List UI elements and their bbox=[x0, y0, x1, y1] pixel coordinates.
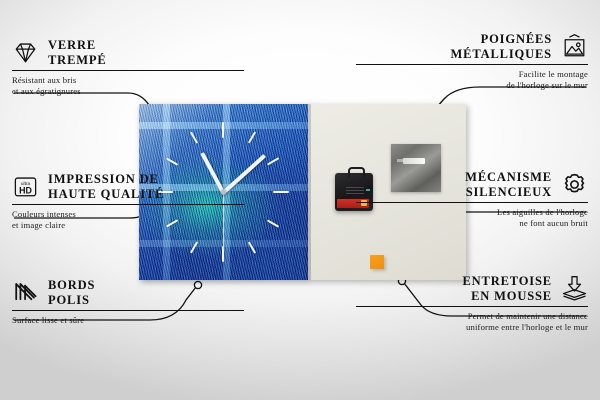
feature-title-line2: MÉTALLIQUES bbox=[450, 47, 552, 62]
feature-header: ENTRETOISE EN MOUSSE bbox=[356, 274, 588, 303]
feature-header: ultra HD IMPRESSION DE HAUTE QUALITÉ bbox=[12, 172, 244, 201]
picture-hanger-icon bbox=[561, 33, 588, 60]
feature-poignees-metalliques: POIGNÉES MÉTALLIQUES Facilite le montage… bbox=[356, 32, 588, 92]
feature-title-line2: SILENCIEUX bbox=[465, 185, 552, 200]
feature-desc-line2: uniforme entre l'horloge et le mur bbox=[356, 322, 588, 333]
foam-spacer-icon bbox=[561, 275, 588, 302]
feature-entretoise-en-mousse: ENTRETOISE EN MOUSSE Permet de maintenir… bbox=[356, 274, 588, 334]
feature-title-line1: IMPRESSION DE bbox=[48, 172, 164, 187]
hanger-slot bbox=[403, 158, 425, 164]
feature-impression-haute-qualite: ultra HD IMPRESSION DE HAUTE QUALITÉ Cou… bbox=[12, 172, 244, 232]
feature-desc-line2: ne font aucun bruit bbox=[356, 218, 588, 229]
feature-divider bbox=[356, 306, 588, 307]
panel-edge bbox=[308, 104, 311, 280]
feature-title-line2: TREMPÉ bbox=[48, 53, 107, 68]
feature-title-line1: BORDS bbox=[48, 278, 95, 293]
feature-title-line1: VERRE bbox=[48, 38, 107, 53]
feature-desc-line2: et aux égratignures bbox=[12, 86, 244, 97]
feature-divider bbox=[12, 70, 244, 71]
feature-header: BORDS POLIS bbox=[12, 278, 244, 307]
feature-desc-line1: Permet de maintenir une distance bbox=[356, 311, 588, 322]
feature-divider bbox=[356, 202, 588, 203]
foam-spacer bbox=[370, 255, 384, 269]
feature-title-line1: MÉCANISME bbox=[465, 170, 552, 185]
feature-divider bbox=[356, 64, 588, 65]
gear-icon bbox=[561, 171, 588, 198]
polished-edges-icon bbox=[12, 279, 39, 306]
feature-header: POIGNÉES MÉTALLIQUES bbox=[356, 32, 588, 61]
feature-bords-polis: BORDS POLIS Surface lisse et sûre bbox=[12, 278, 244, 326]
feature-divider bbox=[12, 310, 244, 311]
feature-divider bbox=[12, 204, 244, 205]
diamond-icon bbox=[12, 39, 39, 66]
feature-desc-line1: Les aiguilles de l'horloge bbox=[356, 207, 588, 218]
feature-desc-line2: de l'horloge sur le mur bbox=[356, 80, 588, 91]
feature-desc-line1: Couleurs intenses bbox=[12, 209, 244, 220]
feature-title-line1: ENTRETOISE bbox=[462, 274, 552, 289]
feature-title-line1: POIGNÉES bbox=[450, 32, 552, 47]
feature-title-line2: HAUTE QUALITÉ bbox=[48, 187, 164, 202]
feature-desc-line1: Surface lisse et sûre bbox=[12, 315, 244, 326]
feature-title-line2: POLIS bbox=[48, 293, 95, 308]
feature-header: MÉCANISME SILENCIEUX bbox=[356, 170, 588, 199]
hanger-slot-secondary bbox=[397, 159, 405, 162]
feature-desc-line2: et image claire bbox=[12, 220, 244, 231]
infographic-stage: VERRE TREMPÉ Résistant aux bris et aux é… bbox=[0, 0, 600, 400]
feature-verre-trempe: VERRE TREMPÉ Résistant aux bris et aux é… bbox=[12, 38, 244, 98]
feature-desc-line1: Résistant aux bris bbox=[12, 75, 244, 86]
feature-title-line2: EN MOUSSE bbox=[462, 289, 552, 304]
ultra-hd-icon: ultra HD bbox=[12, 173, 39, 200]
feature-mecanisme-silencieux: MÉCANISME SILENCIEUX Les aiguilles de l'… bbox=[356, 170, 588, 230]
feature-desc-line1: Facilite le montage bbox=[356, 69, 588, 80]
feature-header: VERRE TREMPÉ bbox=[12, 38, 244, 67]
svg-text:HD: HD bbox=[19, 185, 32, 195]
